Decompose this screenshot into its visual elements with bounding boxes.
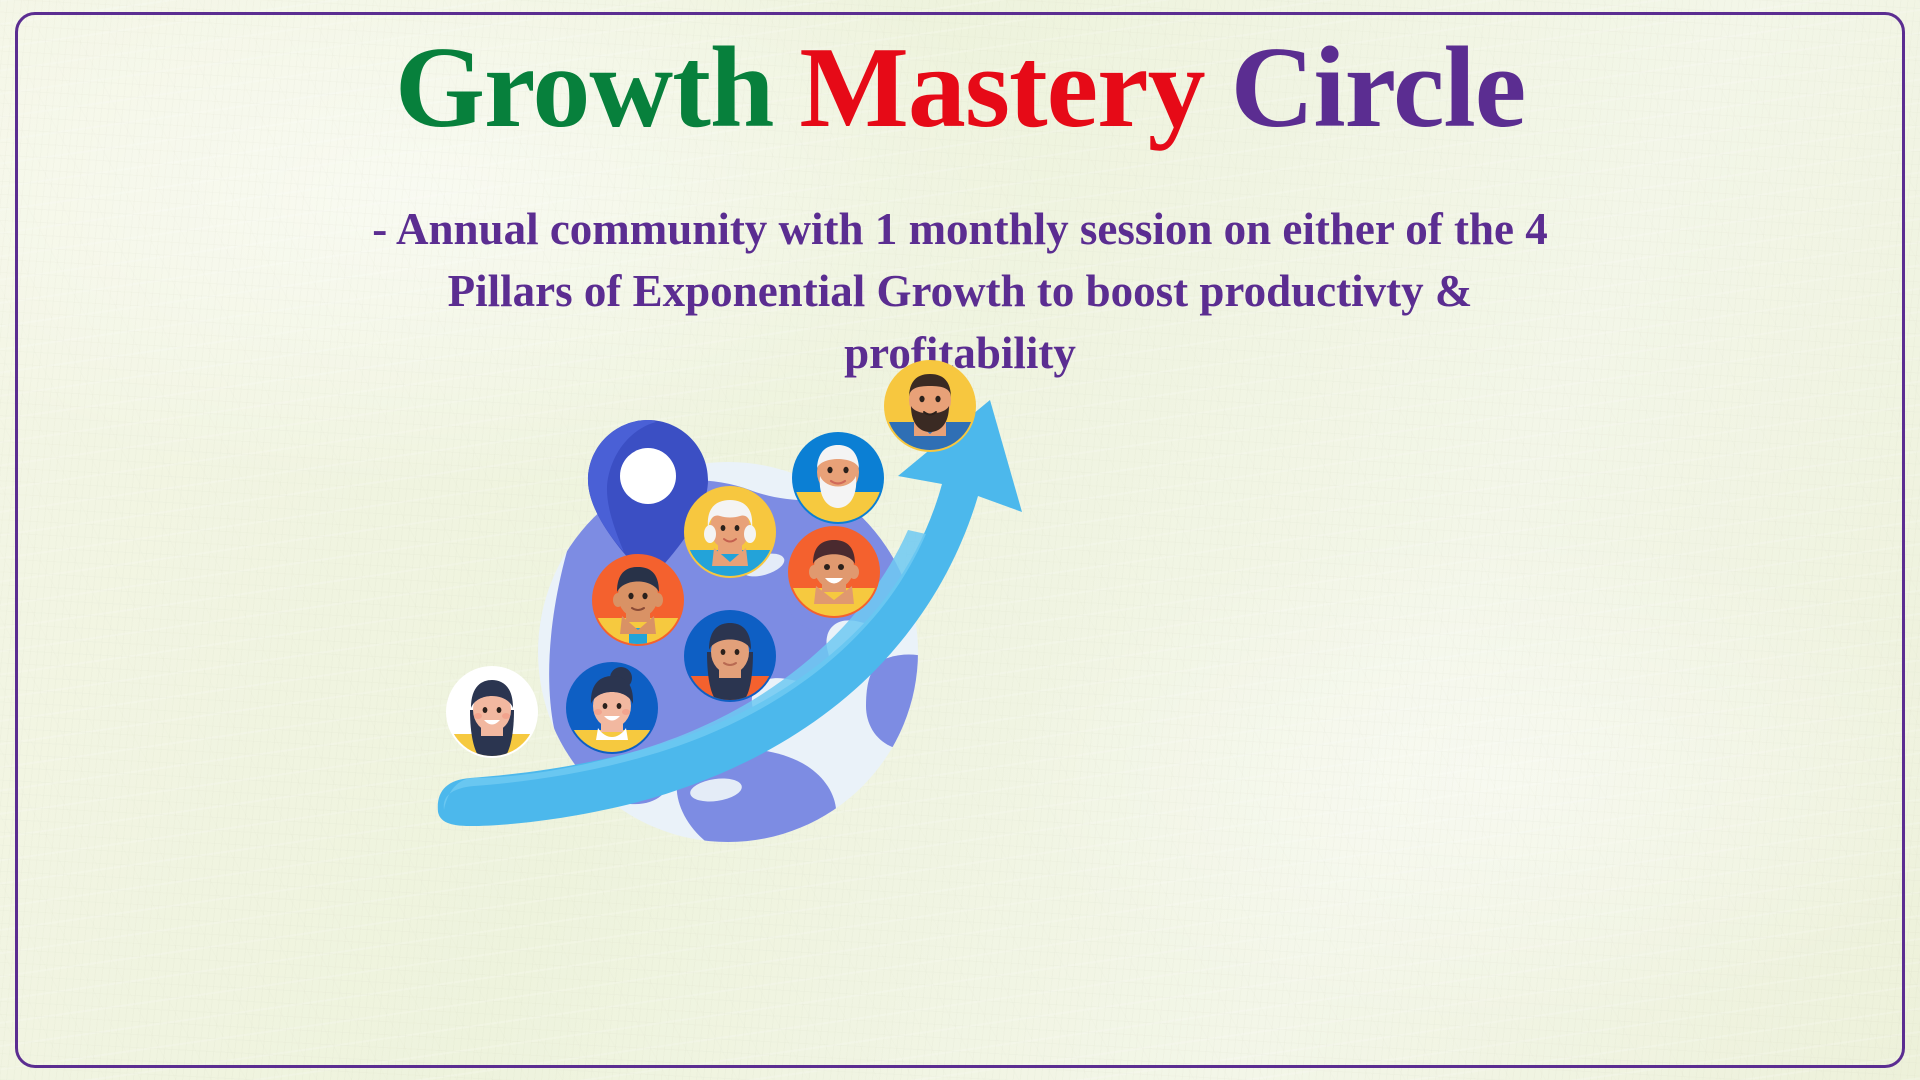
title-word-mastery: Mastery — [799, 24, 1204, 152]
subtitle-line-2: Pillars of Exponential Growth to boost p… — [48, 260, 1872, 322]
subtitle-line-1: - Annual community with 1 monthly sessio… — [48, 198, 1872, 260]
title-word-growth: Growth — [395, 24, 774, 152]
avatar-woman-white — [446, 666, 538, 768]
title-word-circle: Circle — [1231, 24, 1526, 152]
global-community-growth-illustration — [430, 360, 1050, 850]
poster-canvas: GrowthMasteryCircle - Annual community w… — [0, 0, 1920, 1080]
page-title: GrowthMasteryCircle — [0, 26, 1920, 151]
page-subtitle: - Annual community with 1 monthly sessio… — [48, 198, 1872, 384]
